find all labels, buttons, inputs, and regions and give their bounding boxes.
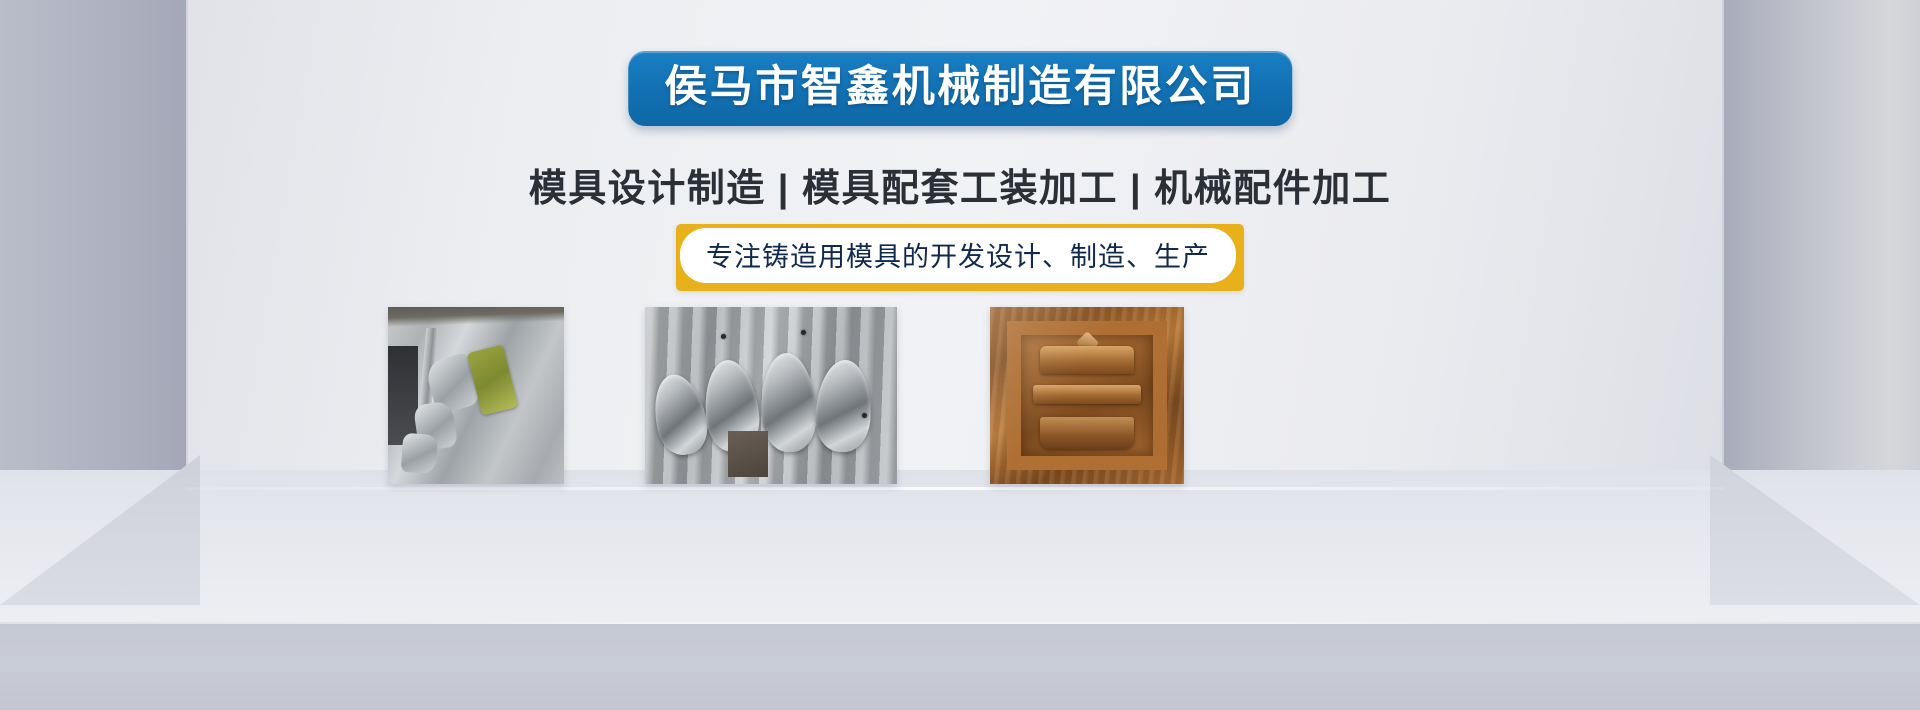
product-photo-row bbox=[0, 307, 1920, 489]
photo-1-casting-c bbox=[401, 433, 439, 474]
photo-3-pattern-top bbox=[1040, 346, 1133, 374]
photo-2-pin-1 bbox=[721, 334, 726, 339]
slogan-pill: 专注铸造用模具的开发设计、制造、生产 bbox=[680, 228, 1236, 283]
company-title-text: 侯马市智鑫机械制造有限公司 bbox=[664, 65, 1256, 110]
photo-2-vane-4 bbox=[814, 359, 874, 454]
product-photo-wooden-mould[interactable] bbox=[990, 307, 1184, 484]
photo-2-pin-2 bbox=[801, 330, 806, 335]
photo-1-image bbox=[388, 307, 564, 484]
photo-1-shadow-region bbox=[388, 346, 418, 445]
banner-content: 侯马市智鑫机械制造有限公司 模具设计制造 | 模具配套工装加工 | 机械配件加工… bbox=[0, 0, 1920, 710]
photo-2-pin-3 bbox=[862, 413, 867, 418]
photo-1-green-insert bbox=[467, 344, 518, 415]
photo-3-pattern-bottom bbox=[1040, 417, 1133, 449]
product-photo-metal-vanes[interactable] bbox=[645, 307, 897, 484]
company-title-badge: 侯马市智鑫机械制造有限公司 bbox=[628, 51, 1292, 126]
banner-stage: 侯马市智鑫机械制造有限公司 模具设计制造 | 模具配套工装加工 | 机械配件加工… bbox=[0, 0, 1920, 710]
photo-3-pattern-middle bbox=[1033, 385, 1142, 404]
product-photo-aluminium-mould[interactable] bbox=[388, 307, 564, 484]
photo-2-base-block bbox=[728, 431, 768, 477]
photo-2-image bbox=[645, 307, 897, 484]
slogan-box: 专注铸造用模具的开发设计、制造、生产 bbox=[676, 224, 1244, 291]
photo-2-vane-1 bbox=[647, 370, 713, 460]
photo-3-image bbox=[990, 307, 1184, 484]
services-line: 模具设计制造 | 模具配套工装加工 | 机械配件加工 bbox=[529, 157, 1392, 212]
slogan-text: 专注铸造用模具的开发设计、制造、生产 bbox=[706, 242, 1210, 272]
